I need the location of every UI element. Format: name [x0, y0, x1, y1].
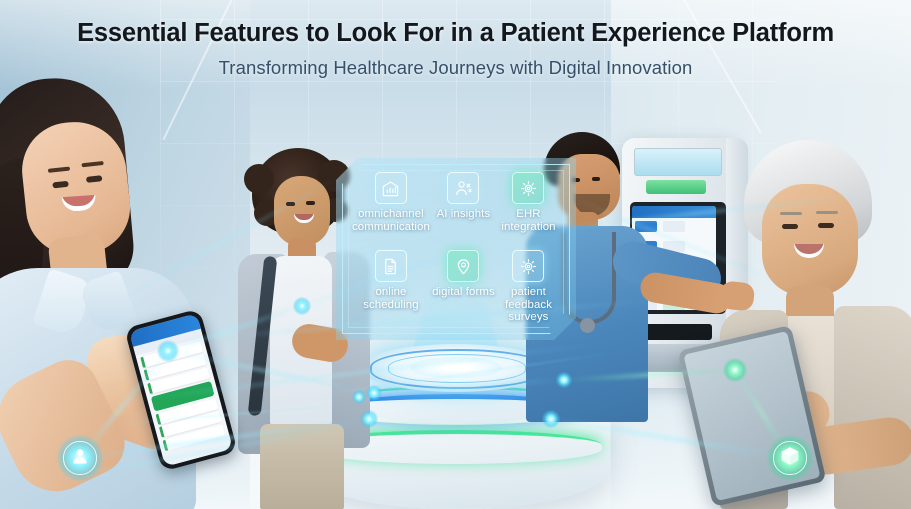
feature-tile-label: omnichannel communication: [352, 208, 430, 233]
woman-left-eye-left: [52, 181, 69, 189]
bar-chart-icon: [375, 172, 407, 204]
feature-tile-patient-feedback-surveys[interactable]: patient feedback surveys: [497, 250, 560, 326]
podium-glow-core: [410, 357, 502, 378]
user-node[interactable]: [57, 435, 103, 481]
link-node-3[interactable]: [366, 385, 382, 401]
node-glow: [366, 385, 382, 401]
feature-tile-ehr-integration[interactable]: EHR integration: [497, 172, 560, 248]
stethoscope-bell: [580, 318, 595, 333]
elderly-woman-face: [762, 184, 858, 296]
woman-with-smartphone: [0, 78, 228, 509]
location-pin-icon: [447, 250, 479, 282]
feature-tile-digital-forms[interactable]: digital forms: [432, 250, 495, 326]
woman-mid-eye-left: [286, 202, 295, 206]
node-glow: [542, 410, 560, 428]
woman-mid-face: [274, 176, 330, 246]
feature-grid: omnichannel communicationAI insightsEHR …: [352, 172, 560, 326]
node-glow: [556, 372, 572, 388]
elderly-woman-with-tablet: [716, 140, 911, 509]
header-block: Essential Features to Look For in a Pati…: [0, 18, 911, 79]
node-glow: [157, 340, 179, 362]
elderly-woman-cardigan-right: [834, 306, 911, 509]
woman-mid-eye-right: [306, 201, 315, 205]
user-ai-icon: [447, 172, 479, 204]
woman-mid-trousers: [260, 424, 344, 509]
link-node-2[interactable]: [293, 297, 311, 315]
woman-left-brow-right: [81, 161, 103, 167]
woman-left-eye-right: [86, 175, 103, 183]
feature-tile-label: patient feedback surveys: [497, 286, 560, 324]
woman-left-brow-left: [48, 167, 70, 173]
gear-sun-icon: [512, 172, 544, 204]
link-node-6[interactable]: [723, 358, 747, 382]
feature-tile-online-scheduling[interactable]: online scheduling: [352, 250, 430, 326]
cube-node[interactable]: [767, 435, 813, 481]
page-title: Essential Features to Look For in a Pati…: [0, 18, 911, 50]
link-node-4[interactable]: [352, 390, 366, 404]
feature-tile-ai-insights[interactable]: AI insights: [432, 172, 495, 248]
node-glow: [360, 410, 378, 428]
feature-tile-label: online scheduling: [352, 286, 430, 311]
clinician-eye-right: [592, 177, 600, 181]
hair-curl: [244, 164, 274, 194]
gear-sun-icon: [512, 250, 544, 282]
elderly-woman-brow-right: [816, 211, 838, 214]
pod-node-l[interactable]: [360, 410, 378, 428]
link-node-1[interactable]: [157, 340, 179, 362]
node-glow: [293, 297, 311, 315]
elderly-woman-brow-left: [780, 212, 802, 215]
cube-icon: [779, 445, 801, 472]
page-subtitle: Transforming Healthcare Journeys with Di…: [0, 57, 911, 79]
feature-tile-label: digital forms: [432, 286, 495, 299]
node-glow: [723, 358, 747, 382]
elderly-woman-eye-left: [782, 224, 798, 229]
feature-tile-omnichannel-communication[interactable]: omnichannel communication: [352, 172, 430, 248]
link-node-5[interactable]: [556, 372, 572, 388]
feature-tile-label: EHR integration: [497, 208, 560, 233]
elderly-woman-eye-right: [818, 223, 834, 228]
scene-root: omnichannel communicationAI insightsEHR …: [0, 0, 911, 509]
node-glow: [352, 390, 366, 404]
user-icon: [70, 446, 90, 471]
feature-tile-label: AI insights: [437, 208, 491, 221]
document-icon: [375, 250, 407, 282]
pod-node-r[interactable]: [542, 410, 560, 428]
